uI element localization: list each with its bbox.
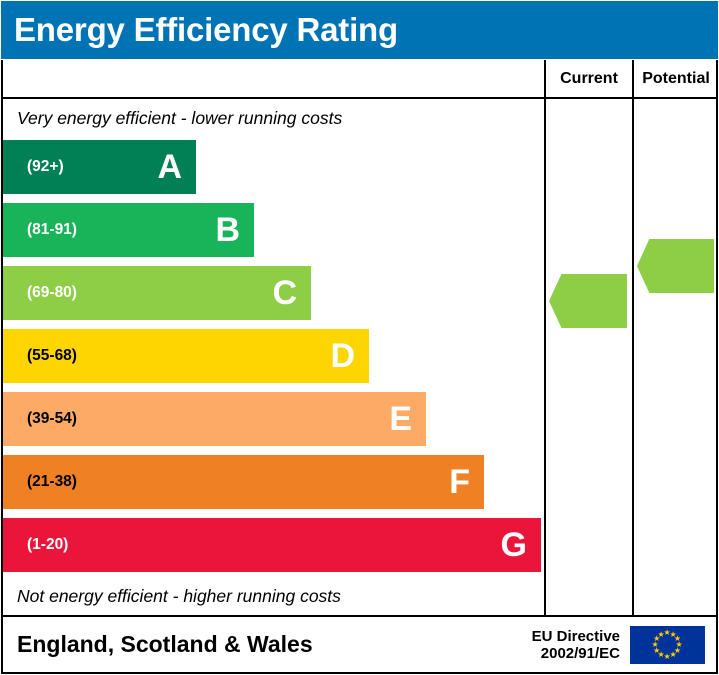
band-d: (55-68)D [3, 329, 369, 383]
footer: England, Scotland & Wales EU Directive 2… [3, 615, 716, 672]
band-b: (81-91)B [3, 203, 254, 257]
column-divider-1 [544, 99, 546, 615]
caption-inefficient: Not energy efficient - higher running co… [3, 577, 542, 615]
eu-flag-star: ★ [658, 631, 665, 639]
band-letter-b: B [215, 213, 240, 247]
band-letter-a: A [157, 150, 182, 184]
title-bar: Energy Efficiency Rating [1, 1, 718, 59]
footer-directive-line1: EU Directive [532, 628, 620, 645]
band-range-c: (69-80) [3, 284, 77, 302]
band-e: (39-54)E [3, 392, 426, 446]
band-range-g: (1-20) [3, 536, 68, 554]
caption-efficient: Very energy efficient - lower running co… [3, 99, 542, 137]
column-divider-2 [632, 99, 634, 615]
column-header-potential: Potential [632, 60, 718, 97]
current-rating-arrow: 74 [549, 274, 627, 328]
band-range-b: (81-91) [3, 221, 77, 239]
band-range-e: (39-54) [3, 410, 77, 428]
band-a: (92+)A [3, 140, 196, 194]
band-range-f: (21-38) [3, 473, 77, 491]
band-letter-c: C [272, 276, 297, 310]
footer-directive: EU Directive 2002/91/EC [532, 617, 620, 672]
potential-arrow-shape [637, 239, 714, 293]
eu-flag-icon: ★★★★★★★★★★★★ [630, 626, 705, 664]
band-letter-e: E [389, 402, 412, 436]
band-g: (1-20)G [3, 518, 541, 572]
band-letter-g: G [501, 528, 527, 562]
chart-frame: Current Potential Very energy efficient … [1, 60, 718, 674]
band-list: (92+)A(81-91)B(69-80)C(55-68)D(39-54)E(2… [3, 137, 542, 577]
footer-region-label: England, Scotland & Wales [17, 617, 313, 672]
band-c: (69-80)C [3, 266, 311, 320]
band-range-a: (92+) [3, 158, 64, 176]
band-letter-f: F [449, 465, 470, 499]
epc-chart: Energy Efficiency Rating Current Potenti… [0, 0, 719, 675]
page-title: Energy Efficiency Rating [1, 11, 398, 49]
column-header-current: Current [544, 60, 632, 97]
column-header-row: Current Potential [3, 60, 716, 99]
potential-rating-arrow: 79 [637, 239, 714, 293]
band-range-d: (55-68) [3, 347, 77, 365]
footer-directive-line2: 2002/91/EC [532, 645, 620, 662]
band-letter-d: D [330, 339, 355, 373]
current-arrow-shape [549, 274, 627, 328]
band-f: (21-38)F [3, 455, 484, 509]
